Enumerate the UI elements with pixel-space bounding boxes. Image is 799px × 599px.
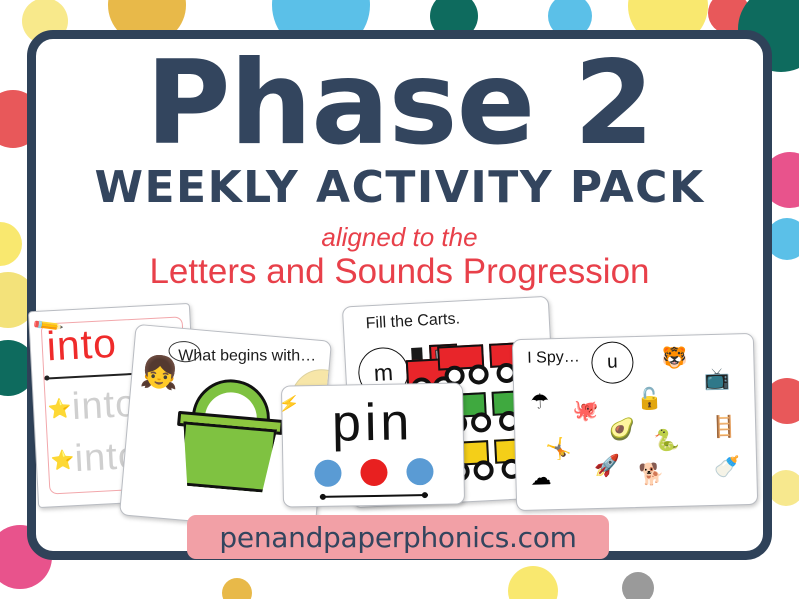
sound-button-word: pin: [282, 391, 463, 454]
rocket-icon[interactable]: 🚀: [594, 455, 621, 477]
fill-carts-title: Fill the Carts.: [365, 310, 460, 333]
dot-left-yellow-a: [0, 222, 22, 266]
page-subtitle: WEEKLY ACTIVITY PACK: [27, 166, 772, 210]
television-icon[interactable]: 📺: [704, 369, 731, 391]
table-dog-icon[interactable]: 🐕: [638, 464, 665, 486]
phase-2-cover-page: Phase 2 WEEKLY ACTIVITY PACK aligned to …: [0, 0, 799, 599]
sound-dot-2[interactable]: [360, 459, 387, 486]
avocado-icon[interactable]: 🥑: [609, 419, 636, 441]
sound-dot-1[interactable]: [314, 460, 341, 487]
worksheet-card-fan: ✏️ into ⭐ into ⭐ into 👧 What begins with…: [27, 300, 772, 535]
website-url-banner[interactable]: penandpaperphonics.com: [187, 515, 609, 559]
cart-wheel: [471, 412, 492, 433]
padlock-icon[interactable]: 🔓: [636, 388, 663, 410]
stairs-icon[interactable]: 🪜: [711, 416, 738, 438]
website-url-text: penandpaperphonics.com: [219, 521, 576, 554]
i-spy-title: I Spy…: [527, 348, 580, 367]
page-title: Phase 2: [27, 46, 772, 162]
cart-wheel: [468, 364, 489, 385]
octopus-icon[interactable]: 🐙: [572, 400, 599, 422]
umbrella-icon[interactable]: ☂: [530, 391, 549, 412]
begins-with-title: What begins with…: [178, 348, 316, 366]
letters-and-sounds-progression-text: Letters and Sounds Progression: [27, 252, 772, 291]
star-icon: ⭐: [50, 448, 75, 473]
handwriting-word: into: [46, 320, 118, 371]
worksheet-card-i-spy[interactable]: I Spy… u 🐯📺☂🐙🔓🥑🐍🪜🤸🚀🐕🍼☁: [512, 333, 758, 511]
cart-wheel: [473, 460, 494, 481]
bucket-body: [178, 421, 277, 493]
worksheet-card-sound-buttons[interactable]: ⚡ pin: [281, 382, 465, 507]
snake-icon[interactable]: 🐍: [653, 430, 680, 452]
cloud-icon[interactable]: ☁: [530, 467, 552, 489]
bucket-icon: [170, 381, 289, 495]
dot-bottom-yellow: [508, 566, 558, 599]
tiger-icon[interactable]: 🐯: [661, 348, 688, 370]
thinking-girl-icon: 👧: [139, 342, 183, 393]
star-icon: ⭐: [47, 396, 72, 421]
upsidedown-icon[interactable]: 🤸: [545, 439, 572, 461]
sound-dot-3[interactable]: [406, 458, 433, 485]
aligned-to-the-text: aligned to the: [27, 224, 772, 251]
bottle-icon[interactable]: 🍼: [714, 456, 741, 478]
title-block: Phase 2 WEEKLY ACTIVITY PACK aligned to …: [27, 46, 772, 291]
sound-button-underline: [320, 494, 428, 498]
letter-circle-u: u: [591, 341, 634, 384]
sound-button-dots: [283, 457, 463, 487]
dot-bottom-grey: [622, 572, 654, 599]
dot-bottom-amber: [222, 578, 252, 599]
dot-right-yellow: [768, 470, 799, 506]
